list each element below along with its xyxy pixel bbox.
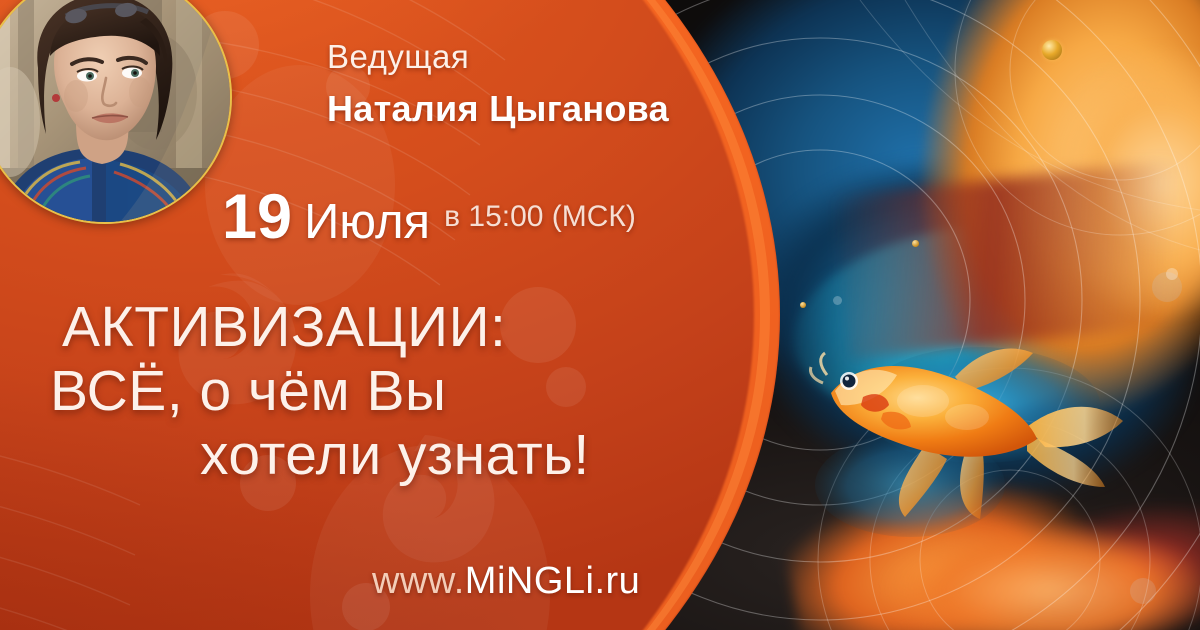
bubble-white-b (833, 296, 842, 305)
event-day: 19 (222, 186, 292, 249)
bubble-gold-large (1042, 40, 1062, 60)
website-url[interactable]: www.MiNGLi.ru (372, 560, 640, 603)
presenter-photo (0, 0, 230, 222)
event-datetime: 19 Июля в 15:00 (МСК) (222, 186, 636, 249)
bubble-gold-small-b (800, 302, 806, 308)
url-prefix: www. (372, 560, 465, 602)
event-time: в 15:00 (МСК) (444, 202, 636, 232)
page-title: АКТИВИЗАЦИИ: ВСЁ, о чём Вы хотели узнать… (0, 296, 700, 487)
bubble-gold-small-a (912, 240, 919, 247)
host-role-label: Ведущая (327, 38, 469, 76)
url-domain: MiNGLi.ru (465, 560, 641, 602)
headline-line-3: хотели узнать! (0, 424, 700, 488)
promo-banner: Ведущая Наталия Цыганова 19 Июля в 15:00… (0, 0, 1200, 630)
event-month: Июля (304, 198, 430, 247)
goldfish-icon (805, 335, 1135, 565)
bubble-white-a (1166, 268, 1178, 280)
host-name: Наталия Цыганова (327, 88, 669, 130)
bubble-gray-b (1130, 578, 1156, 604)
headline-line-2: ВСЁ, о чём Вы (0, 360, 700, 424)
headline-line-1: АКТИВИЗАЦИИ: (0, 296, 700, 360)
avatar (0, 0, 232, 224)
